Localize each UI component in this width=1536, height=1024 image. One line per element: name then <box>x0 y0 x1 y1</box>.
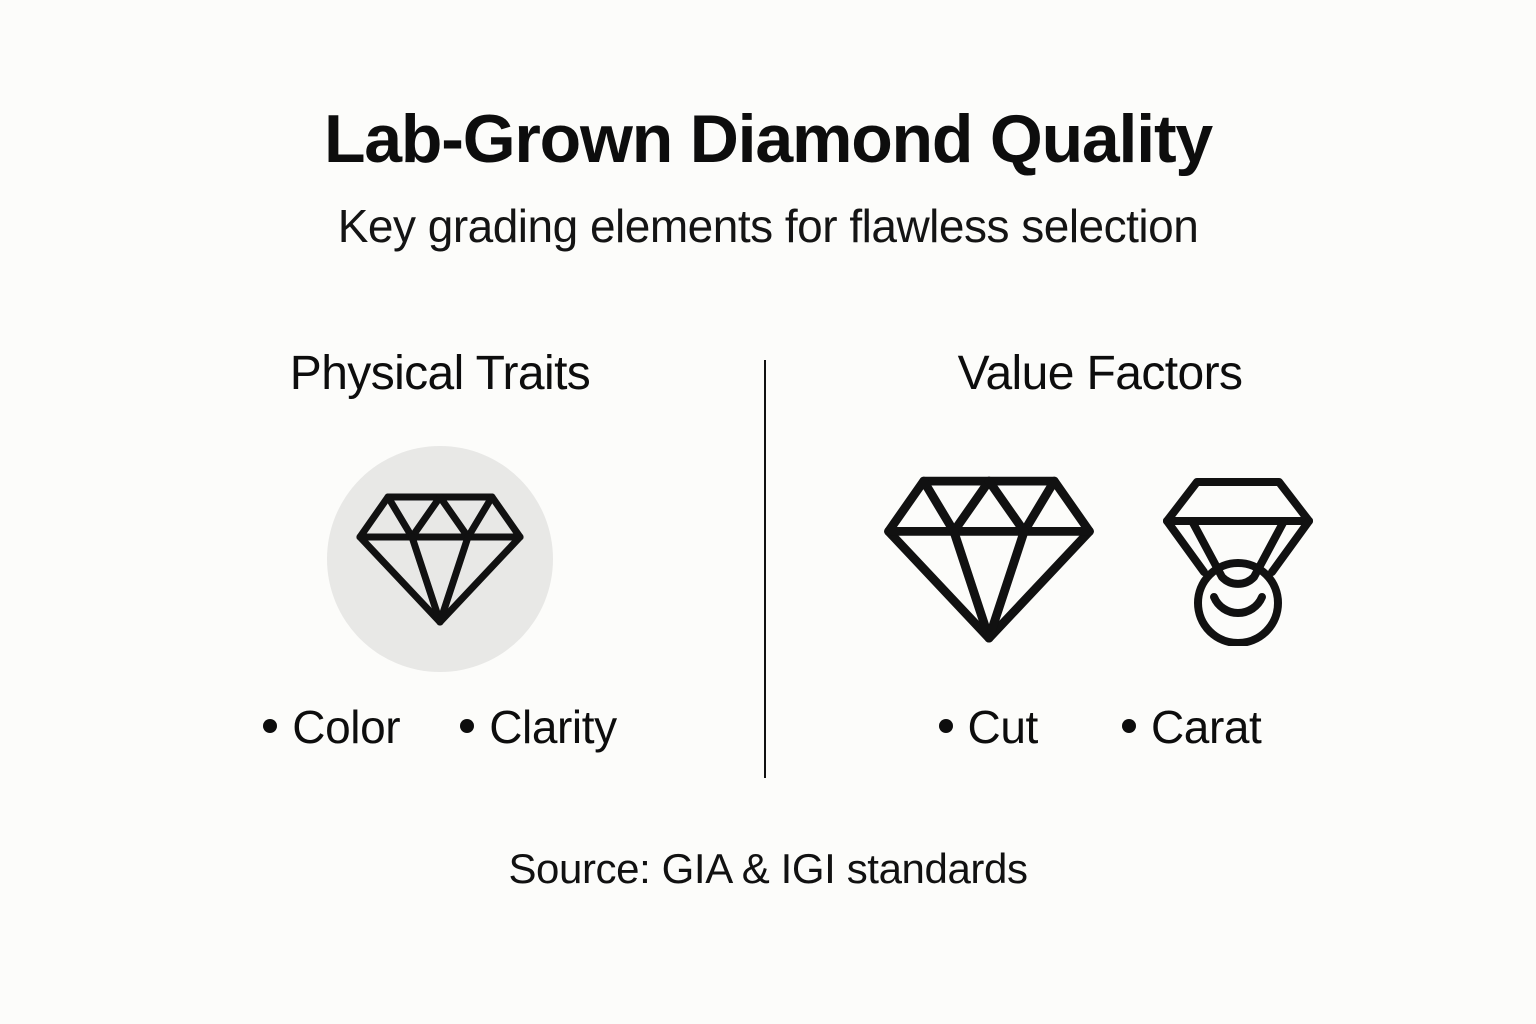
gem-ring-icon <box>1157 472 1319 646</box>
bullet-item-carat: Carat <box>1122 700 1262 754</box>
bullet-dot-icon <box>460 719 474 733</box>
bullet-label-color: Color <box>292 700 400 754</box>
diamond-icon <box>881 471 1097 647</box>
icon-row-value-factors <box>800 444 1400 674</box>
column-heading-physical-traits: Physical Traits <box>140 348 740 401</box>
icon-row-physical-traits <box>140 444 740 674</box>
bullet-label-clarity: Clarity <box>489 700 617 754</box>
bullet-list-value-factors: Cut Carat <box>800 700 1400 754</box>
diamond-icon-badge <box>327 446 553 672</box>
column-physical-traits: Physical Traits <box>140 348 740 788</box>
column-value-factors: Value Factors <box>800 348 1400 788</box>
bullet-dot-icon <box>1122 719 1136 733</box>
diamond-icon <box>354 489 526 629</box>
bullet-list-physical-traits: Color Clarity <box>140 700 740 754</box>
bullet-label-cut: Cut <box>968 700 1038 754</box>
columns-container: Physical Traits <box>0 348 1536 788</box>
header: Lab-Grown Diamond Quality Key grading el… <box>0 104 1536 252</box>
infographic-poster: Lab-Grown Diamond Quality Key grading el… <box>0 0 1536 1024</box>
bullet-dot-icon <box>939 719 953 733</box>
source-text: Source: GIA & IGI standards <box>0 845 1536 893</box>
page-title: Lab-Grown Diamond Quality <box>0 104 1536 175</box>
column-heading-value-factors: Value Factors <box>800 348 1400 401</box>
footer: Source: GIA & IGI standards <box>0 845 1536 893</box>
bullet-item-cut: Cut <box>939 700 1038 754</box>
bullet-label-carat: Carat <box>1151 700 1262 754</box>
bullet-dot-icon <box>263 719 277 733</box>
bullet-item-color: Color <box>263 700 400 754</box>
page-subtitle: Key grading elements for flawless select… <box>0 201 1536 252</box>
bullet-item-clarity: Clarity <box>460 700 617 754</box>
